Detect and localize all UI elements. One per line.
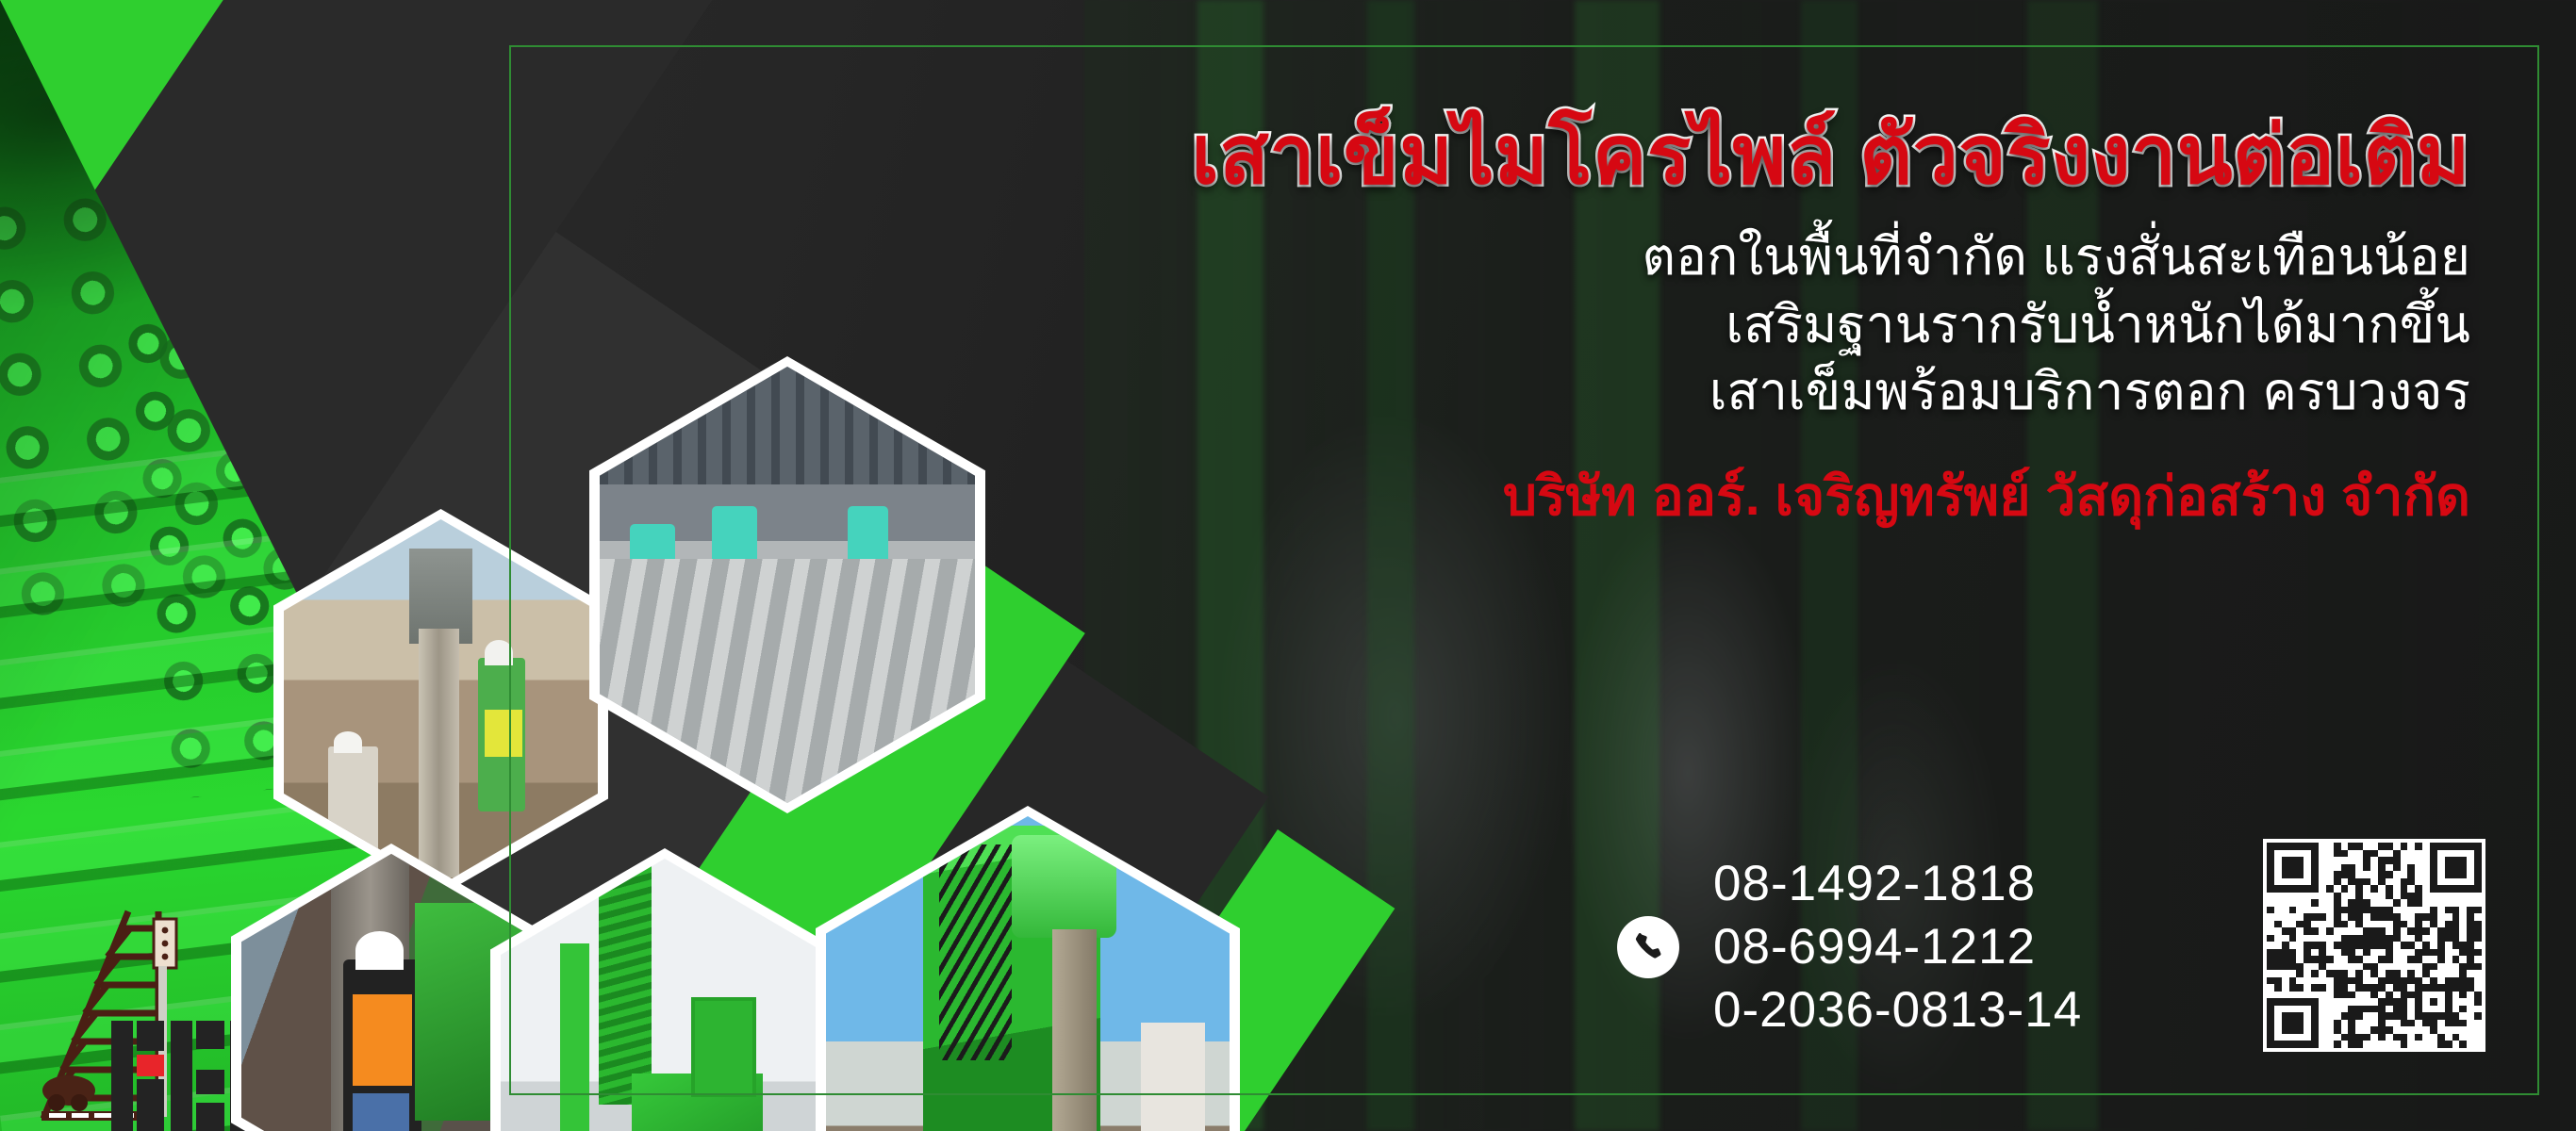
promotional-banner: เสาเข็มไมโครไพล์ ตัวจริงงานต่อเติม ตอกใน…	[0, 0, 2576, 1131]
phone-number-1[interactable]: 08-1492-1818	[1713, 853, 2082, 916]
subcopy-line-2: เสริมฐานรากรับน้ำหนักได้มากขึ้น	[830, 291, 2470, 359]
hex-photo-pile-driving	[273, 509, 608, 895]
phone-number-2[interactable]: 08-6994-1212	[1713, 916, 2082, 979]
qr-code-grid	[2267, 843, 2482, 1048]
hex-photo-drill-rig	[816, 806, 1240, 1131]
hex-photo-pile-rig	[490, 848, 839, 1131]
subcopy: ตอกในพื้นที่จำกัด แรงสั่นสะเทือนน้อย เสร…	[830, 223, 2527, 426]
subcopy-line-1: ตอกในพื้นที่จำกัด แรงสั่นสะเทือนน้อย	[830, 223, 2470, 291]
copy-block: เสาเข็มไมโครไพล์ ตัวจริงงานต่อเติม ตอกใน…	[830, 113, 2527, 526]
phone-icon	[1617, 916, 1679, 978]
qr-code[interactable]	[2263, 839, 2485, 1052]
headline: เสาเข็มไมโครไพล์ ตัวจริงงานต่อเติม	[830, 113, 2527, 199]
subcopy-line-3: เสาเข็มพร้อมบริการตอก ครบวงจร	[830, 358, 2470, 426]
contact-block[interactable]: 08-1492-1818 08-6994-1212 0-2036-0813-14	[1617, 853, 2082, 1041]
phone-number-list: 08-1492-1818 08-6994-1212 0-2036-0813-14	[1713, 853, 2082, 1041]
phone-number-3[interactable]: 0-2036-0813-14	[1713, 979, 2082, 1042]
company-name: บริษัท ออร์. เจริญทรัพย์ วัสดุก่อสร้าง จ…	[830, 467, 2527, 527]
